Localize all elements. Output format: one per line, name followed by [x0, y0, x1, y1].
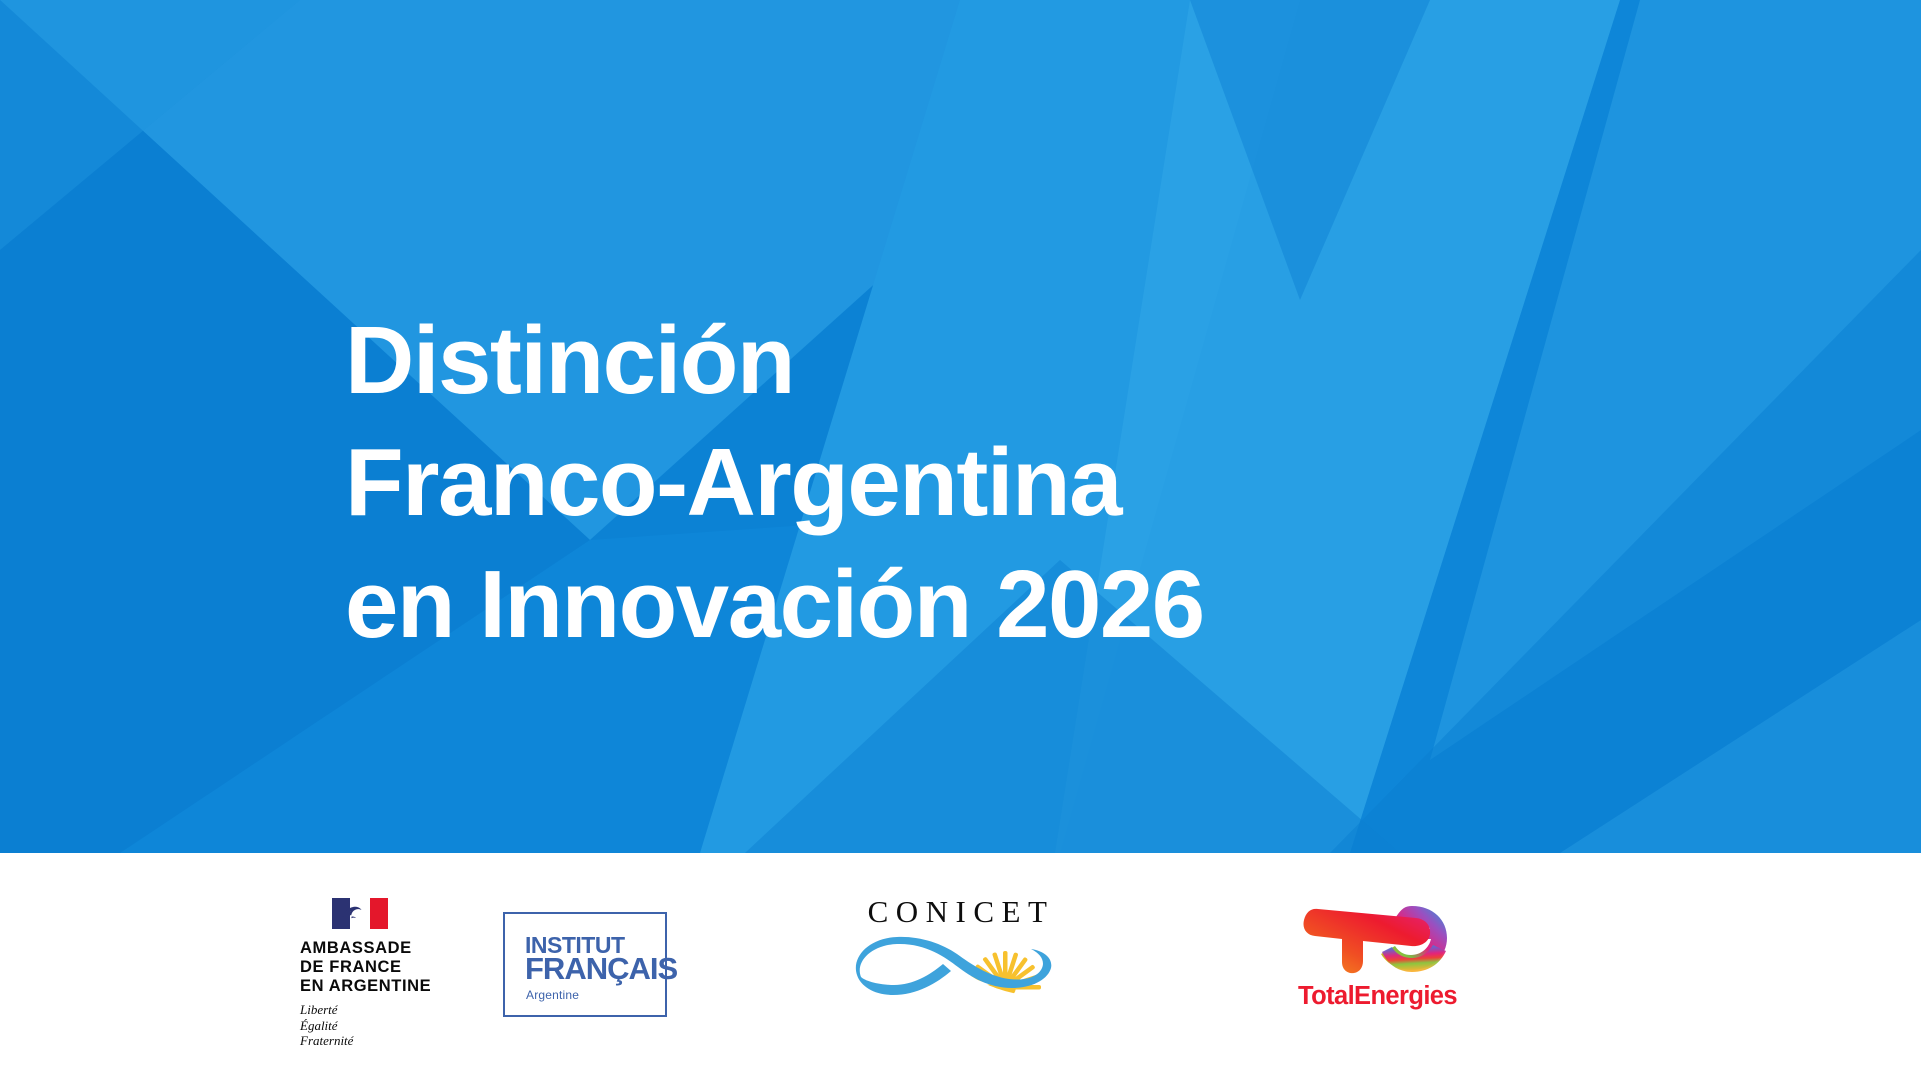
title-line-2: Franco-Argentina	[345, 422, 1645, 544]
title-line-3: en Innovación 2026	[345, 544, 1645, 666]
ambassade-line-3: EN ARGENTINE	[300, 977, 485, 996]
ambassade-line-2: DE FRANCE	[300, 958, 485, 977]
totalenergies-te-mark-icon	[1290, 898, 1465, 980]
conicet-wordmark: CONICET	[855, 895, 1060, 929]
logo-institut-francais: INSTITUT FRANÇAIS Argentine	[503, 912, 667, 1017]
institut-francais-line-2: FRANÇAIS	[525, 953, 677, 984]
french-flag-icon	[332, 898, 388, 929]
logo-conicet: CONICET	[855, 895, 1060, 997]
conicet-infinity-sun-icon	[855, 935, 1060, 997]
logo-totalenergies: TotalEnergies	[1290, 898, 1465, 1010]
ambassade-line-1: AMBASSADE	[300, 939, 485, 958]
institut-francais-country: Argentine	[526, 988, 579, 1002]
logo-ambassade-de-france: AMBASSADE DE FRANCE EN ARGENTINE Liberté…	[300, 898, 485, 1049]
motto-fraternite: Fraternité	[300, 1033, 485, 1049]
motto-liberte: Liberté	[300, 1002, 485, 1018]
poster-root: Distinción Franco-Argentina en Innovació…	[0, 0, 1921, 1081]
motto-egalite: Égalité	[300, 1018, 485, 1034]
page-title: Distinción Franco-Argentina en Innovació…	[345, 300, 1645, 666]
marianne-profile-icon	[340, 903, 366, 924]
totalenergies-wordmark: TotalEnergies	[1290, 982, 1465, 1010]
title-line-1: Distinción	[345, 300, 1645, 422]
